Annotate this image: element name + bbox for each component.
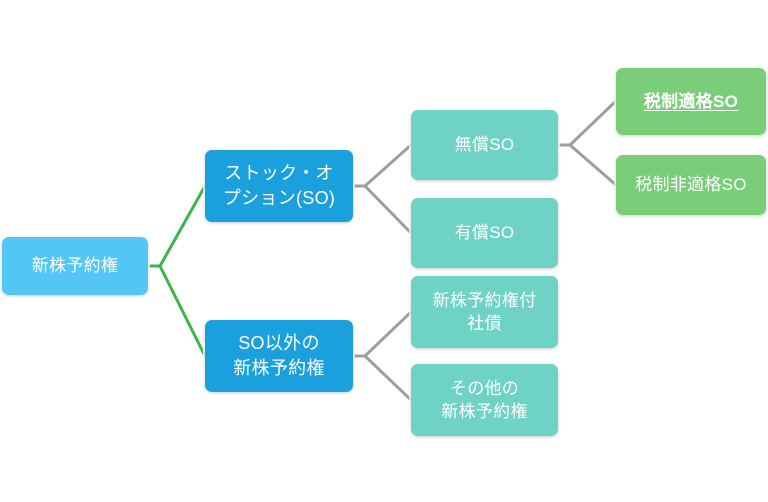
edge-nonso-other <box>353 356 411 400</box>
edge-free-qualified <box>558 101 616 145</box>
node-paid-so[interactable]: 有償SO <box>411 198 558 268</box>
node-qualified-so[interactable]: 税制適格SO <box>616 68 766 135</box>
edge-nonso-bond <box>353 312 411 356</box>
node-non-qualified-so[interactable]: 税制非適格SO <box>616 155 766 215</box>
node-free-so[interactable]: 無償SO <box>411 110 558 180</box>
node-other-warrant[interactable]: その他の 新株予約権 <box>411 364 558 436</box>
edge-root-non-so <box>148 266 205 356</box>
node-root[interactable]: 新株予約権 <box>2 237 148 295</box>
node-non-so[interactable]: SO以外の 新株予約権 <box>205 320 353 392</box>
diagram-canvas: 新株予約権ストック・オ プション(SO)SO以外の 新株予約権無償SO有償SO新… <box>0 0 768 502</box>
edge-root-so <box>148 186 205 266</box>
edge-so-paid <box>353 186 411 233</box>
edge-free-nonqual <box>558 145 616 185</box>
node-bond-with-warrant[interactable]: 新株予約権付 社債 <box>411 276 558 348</box>
edge-so-free <box>353 145 411 186</box>
node-so[interactable]: ストック・オ プション(SO) <box>205 150 353 222</box>
